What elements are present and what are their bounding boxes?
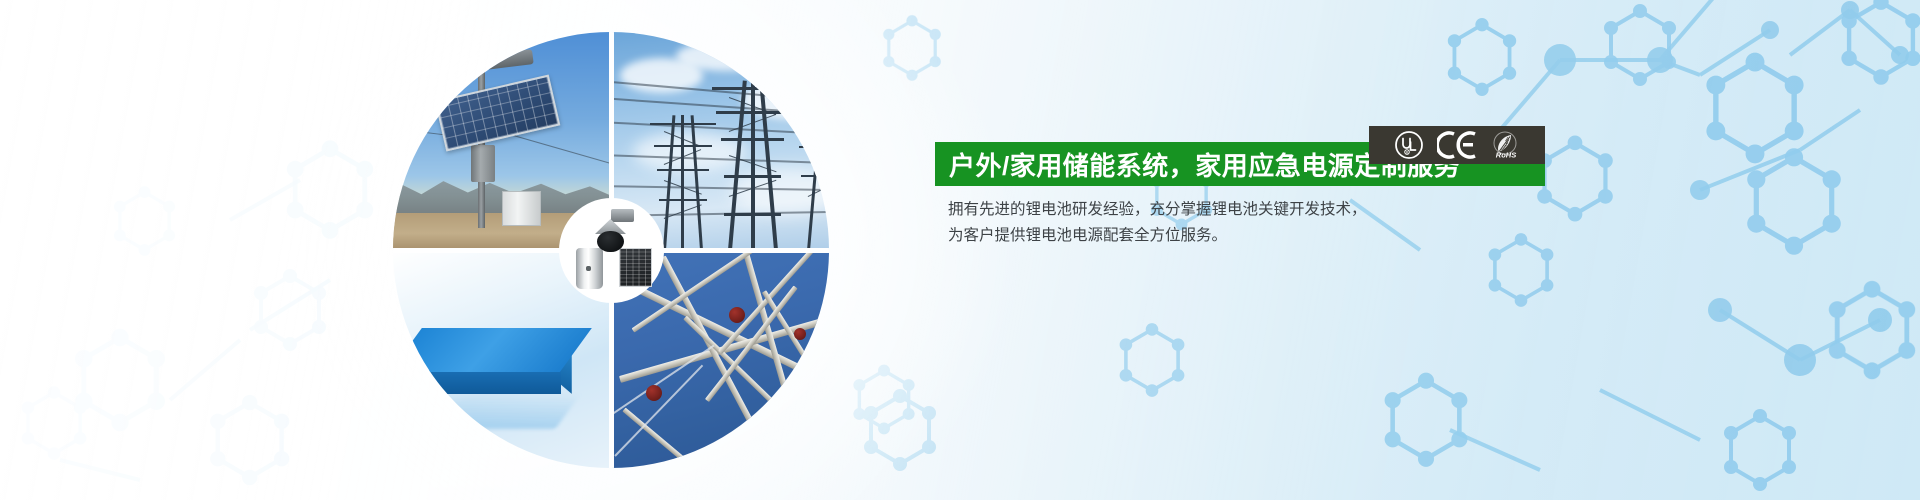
svg-text:RoHS: RoHS [1496,151,1516,160]
camera-mount-icon [611,209,634,222]
solar-panel-icon [619,248,652,287]
promo-banner: R RoHS 户外/家用储能系统，家用应急电源定制服务 拥有先进的锂电池研发经验… [0,0,1920,500]
rohs-certification-icon: RoHS [1490,130,1520,160]
description-line-2: 为客户提供锂电池电源配套全方位服务。 [948,223,1588,249]
molecule-pattern-background [0,0,1920,500]
ce-certification-icon [1437,131,1477,159]
battery-unit-icon [576,248,603,289]
description-line-1: 拥有先进的锂电池研发经验，充分掌握锂电池关键开发技术， [948,197,1588,223]
product-application-collage [393,32,829,468]
ptz-camera-icon [597,231,623,252]
description-block: 拥有先进的锂电池研发经验，充分掌握锂电池关键开发技术， 为客户提供锂电池电源配套… [948,197,1588,249]
background-left-fade [0,0,1920,500]
ul-certification-icon: R [1394,130,1424,160]
certification-badges: R RoHS [1369,126,1545,164]
collage-center-product [563,202,660,299]
